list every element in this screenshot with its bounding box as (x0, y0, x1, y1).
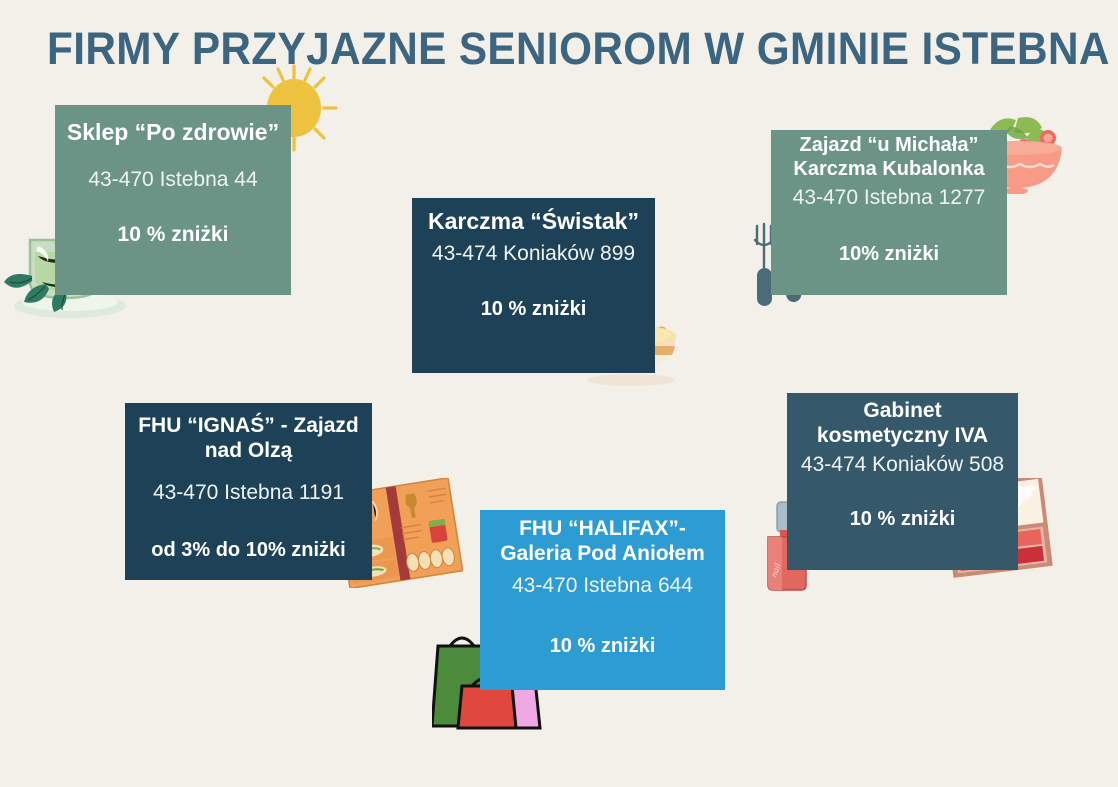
page-title: FIRMY PRZYJAZNE SENIOROM W GMINIE ISTEBN… (47, 23, 1015, 75)
discount-badge: od 3% do 10% zniżki (125, 539, 372, 562)
business-card-halifax[interactable]: FHU “HALIFAX”- Galeria Pod Aniołem 43-47… (480, 510, 725, 690)
business-name-line1: Gabinet (787, 399, 1018, 424)
discount-badge: 10 % zniżki (787, 508, 1018, 531)
discount-badge: 10 % zniżki (412, 298, 655, 321)
business-name-line2: Galeria Pod Aniołem (480, 542, 725, 567)
business-address: 43-474 Koniaków 899 (412, 241, 655, 266)
business-name-line1: Zajazd “u Michała” (771, 134, 1007, 158)
business-address: 43-470 Istebna 1191 (125, 480, 372, 505)
business-name-line1: FHU “IGNAŚ” - Zajazd (125, 414, 372, 439)
business-name: Gabinet kosmetyczny IVA (787, 399, 1018, 449)
business-name: FHU “HALIFAX”- Galeria Pod Aniołem (480, 517, 725, 567)
business-name: Karczma “Świstak” (412, 208, 655, 235)
business-name-line2: Karczma Kubalonka (771, 158, 1007, 182)
poster-canvas: FIRMY PRZYJAZNE SENIOROM W GMINIE ISTEBN… (0, 0, 1118, 787)
business-name-line2: nad Olzą (125, 439, 372, 464)
business-address: 43-470 Istebna 1277 (771, 185, 1007, 210)
discount-badge: 10% zniżki (771, 243, 1007, 266)
business-address: 43-470 Istebna 644 (480, 573, 725, 598)
business-address: 43-474 Koniaków 508 (787, 452, 1018, 477)
business-name-line1: FHU “HALIFAX”- (480, 517, 725, 542)
business-name: Sklep “Po zdrowie” (55, 119, 291, 146)
discount-badge: 10 % zniżki (55, 223, 291, 247)
business-card-gabinet[interactable]: Gabinet kosmetyczny IVA 43-474 Koniaków … (787, 393, 1018, 570)
discount-badge: 10 % zniżki (480, 635, 725, 658)
business-card-sklep[interactable]: Sklep “Po zdrowie” 43-470 Istebna 44 10 … (55, 105, 291, 295)
business-address: 43-470 Istebna 44 (55, 167, 291, 192)
business-card-michal[interactable]: Zajazd “u Michała” Karczma Kubalonka 43-… (771, 130, 1007, 295)
business-card-swistak[interactable]: Karczma “Świstak” 43-474 Koniaków 899 10… (412, 198, 655, 373)
business-name: Zajazd “u Michała” Karczma Kubalonka (771, 134, 1007, 181)
business-name: FHU “IGNAŚ” - Zajazd nad Olzą (125, 414, 372, 464)
business-name-line2: kosmetyczny IVA (787, 424, 1018, 449)
business-card-ignas[interactable]: FHU “IGNAŚ” - Zajazd nad Olzą 43-470 Ist… (125, 403, 372, 580)
